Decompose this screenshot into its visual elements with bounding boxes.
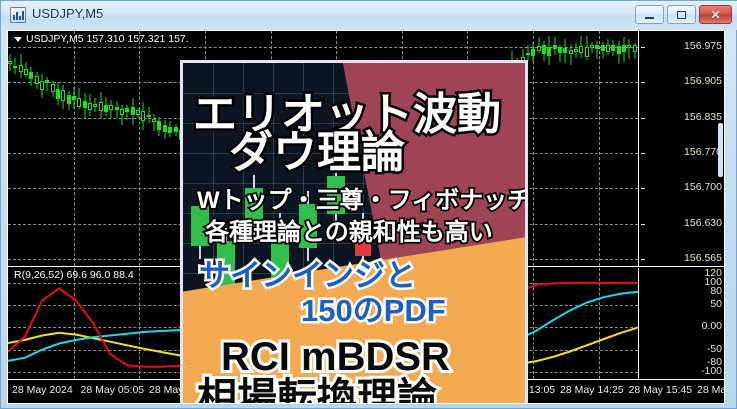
candle — [88, 94, 92, 116]
candle — [174, 124, 178, 136]
candle — [141, 102, 145, 130]
candle — [537, 37, 541, 54]
close-button[interactable]: ✕ — [699, 5, 732, 24]
candle — [136, 108, 140, 117]
time-axis-label: 28 May 15:45 — [629, 384, 693, 396]
candle — [590, 42, 594, 53]
candle — [547, 36, 551, 66]
candle — [99, 92, 103, 118]
candle — [569, 44, 573, 65]
candle — [83, 93, 87, 119]
candle — [168, 121, 172, 137]
candle — [627, 39, 631, 58]
price-axis-label: 156.905 — [684, 75, 722, 87]
candle — [622, 37, 626, 62]
candle — [120, 105, 124, 124]
candle — [109, 100, 113, 119]
price-axis: 156.975156.905156.835156.770156.700156.6… — [638, 31, 725, 266]
overlay-sub-2: 各種理論との親和性も高い — [205, 221, 493, 245]
candle — [40, 74, 44, 98]
candle — [157, 117, 161, 136]
indicator-axis-label: -50 — [707, 343, 722, 355]
candle — [617, 41, 621, 64]
time-axis-label: 28 May 14:25 — [560, 384, 624, 396]
candle — [542, 41, 546, 61]
price-axis-label: 156.700 — [684, 181, 722, 193]
candle — [104, 97, 108, 116]
candle — [8, 54, 12, 71]
candle — [56, 82, 60, 106]
overlay-headline-2: ダウ理論 — [229, 131, 405, 175]
price-axis-label: 156.565 — [684, 252, 722, 264]
overlay-blue-1: サインインジと — [199, 260, 416, 291]
overlay-black-1: RCI mBDSR — [221, 337, 450, 377]
candle — [45, 77, 49, 92]
time-axis-label: 28 May 17:05 — [697, 384, 725, 396]
candle — [633, 43, 637, 60]
candle — [163, 120, 167, 139]
window-title: USDJPY,M5 — [32, 6, 103, 21]
candle — [601, 42, 605, 58]
overlay-blue-2: 150のPDF — [301, 295, 446, 326]
indicator-legend: R(9,26,52) 69.6 96.0 88.4 — [14, 269, 134, 281]
minimize-icon — [636, 6, 663, 23]
candle — [125, 105, 129, 120]
candle — [72, 87, 76, 109]
indicator-axis-label: 50 — [710, 298, 722, 310]
candle — [526, 45, 530, 61]
candle — [152, 114, 156, 132]
candle — [553, 37, 557, 56]
candle — [531, 42, 535, 63]
price-axis-label: 156.630 — [684, 217, 722, 229]
candle — [131, 98, 135, 125]
candle — [61, 85, 65, 108]
indicator-axis-label: -100 — [701, 365, 722, 377]
candle — [77, 88, 81, 109]
candle — [19, 54, 23, 77]
maximize-button[interactable] — [667, 5, 696, 24]
window-titlebar[interactable]: USDJPY,M5 ✕ — [1, 1, 737, 30]
candle — [147, 107, 151, 123]
candle — [51, 81, 55, 97]
candle — [558, 45, 562, 62]
overlay-text-content: エリオット波動 ダウ理論 Wトップ・三尊・フィボナッチ 各種理論との親和性も高い… — [183, 63, 525, 404]
promo-overlay: エリオット波動 ダウ理論 Wトップ・三尊・フィボナッチ 各種理論との親和性も高い… — [180, 60, 528, 404]
chart-symbol-legend: USDJPY,M5 157.310 157.321 157. — [14, 33, 189, 45]
candle — [24, 62, 28, 77]
indicator-axis: 12010080500.00-50-80-100 — [638, 268, 725, 379]
chart-client-area[interactable]: USDJPY,M5 157.310 157.321 157. 156.97515… — [7, 30, 725, 404]
price-axis-label: 156.835 — [684, 111, 722, 123]
candle — [29, 67, 33, 86]
candle — [606, 39, 610, 55]
time-axis-label: 28 May 2024 — [12, 384, 73, 396]
candle — [35, 72, 39, 90]
candle — [579, 36, 583, 58]
vertical-scrollbar-thumb[interactable] — [718, 123, 723, 177]
candle — [115, 101, 119, 117]
overlay-sub-1: Wトップ・三尊・フィボナッチ — [197, 189, 528, 213]
indicator-axis-label: 0.00 — [702, 320, 722, 332]
candle — [13, 58, 17, 74]
price-axis-label: 156.975 — [684, 40, 722, 52]
mt4-chart-icon — [10, 7, 26, 23]
time-axis-label: 28 May 05:05 — [81, 384, 145, 396]
candle — [585, 36, 589, 59]
candle — [611, 40, 615, 56]
candle — [574, 43, 578, 58]
collapse-triangle-icon[interactable] — [14, 37, 22, 42]
price-axis-label: 156.770 — [684, 146, 722, 158]
candle — [595, 41, 599, 60]
indicator-axis-label: 80 — [710, 285, 722, 297]
minimize-button[interactable] — [635, 5, 664, 24]
mt4-chart-window: USDJPY,M5 ✕ USDJPY,M5 157.310 157.321 15… — [0, 0, 737, 409]
candle — [67, 91, 71, 110]
overlay-black-2: 相場転換理論 — [197, 378, 437, 404]
symbol-legend-text: USDJPY,M5 157.310 157.321 157. — [26, 33, 189, 45]
candle — [563, 39, 567, 62]
close-icon: ✕ — [700, 6, 731, 23]
candle — [93, 98, 97, 112]
maximize-icon — [668, 6, 695, 23]
